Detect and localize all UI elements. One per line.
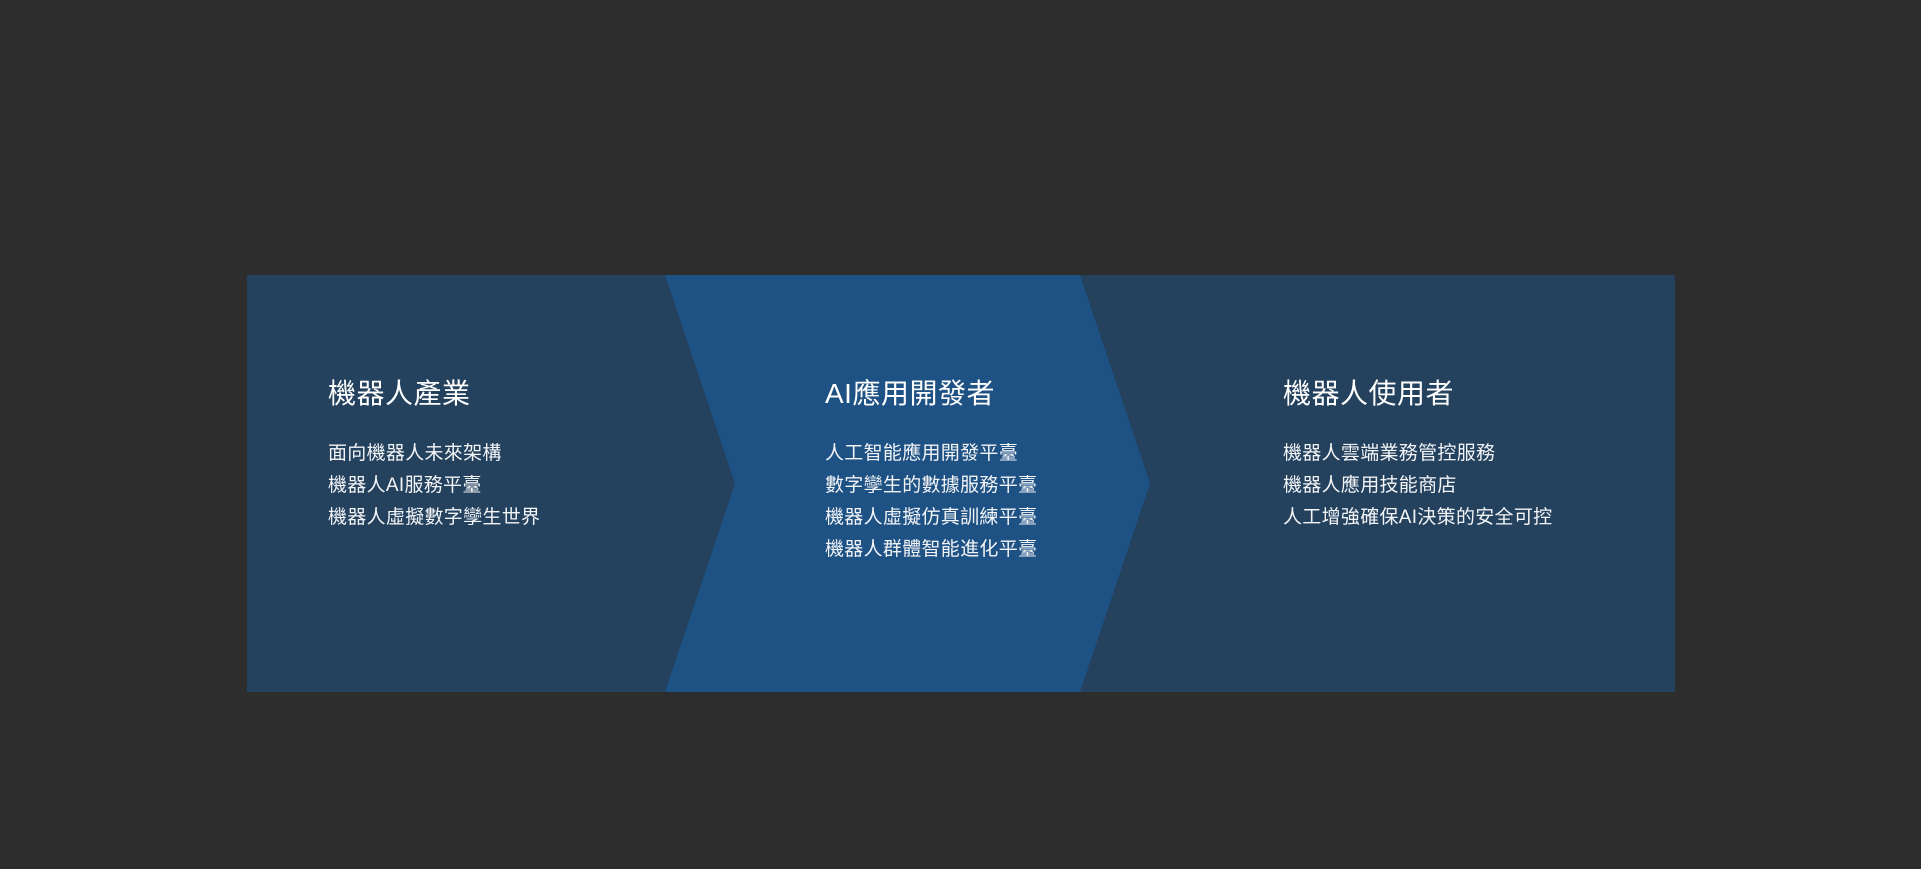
list-item: 人工智能應用開發平臺 (825, 438, 1037, 470)
list-item: 面向機器人未來架構 (328, 438, 540, 470)
list-item: 機器人虛擬數字孿生世界 (328, 502, 540, 534)
column-item-list: 人工智能應用開發平臺 數字孿生的數據服務平臺 機器人虛擬仿真訓練平臺 機器人群體… (825, 438, 1037, 566)
list-item: 機器人應用技能商店 (1283, 470, 1552, 502)
banner-column-ai-app-developer[interactable]: AI應用開發者 人工智能應用開發平臺 數字孿生的數據服務平臺 機器人虛擬仿真訓練… (825, 275, 1155, 692)
column-item-list: 機器人雲端業務管控服務 機器人應用技能商店 人工增強確保AI決策的安全可控 (1283, 438, 1552, 534)
column-item-list: 面向機器人未來架構 機器人AI服務平臺 機器人虛擬數字孿生世界 (328, 438, 540, 534)
list-item: 機器人雲端業務管控服務 (1283, 438, 1552, 470)
list-item: 機器人群體智能進化平臺 (825, 534, 1037, 566)
column-title: 機器人產業 (328, 377, 471, 411)
process-banner: 機器人產業 面向機器人未來架構 機器人AI服務平臺 機器人虛擬數字孿生世界 AI… (247, 275, 1675, 692)
banner-column-robot-user[interactable]: 機器人使用者 機器人雲端業務管控服務 機器人應用技能商店 人工增強確保AI決策的… (1283, 275, 1663, 692)
banner-column-robot-industry[interactable]: 機器人產業 面向機器人未來架構 機器人AI服務平臺 機器人虛擬數字孿生世界 (328, 275, 658, 692)
list-item: 機器人虛擬仿真訓練平臺 (825, 502, 1037, 534)
page-canvas: 機器人產業 面向機器人未來架構 機器人AI服務平臺 機器人虛擬數字孿生世界 AI… (0, 0, 1921, 869)
list-item: 數字孿生的數據服務平臺 (825, 470, 1037, 502)
list-item: 機器人AI服務平臺 (328, 470, 540, 502)
column-title: 機器人使用者 (1283, 377, 1454, 411)
column-title: AI應用開發者 (825, 377, 995, 411)
list-item: 人工增強確保AI決策的安全可控 (1283, 502, 1552, 534)
banner-columns: 機器人產業 面向機器人未來架構 機器人AI服務平臺 機器人虛擬數字孿生世界 AI… (247, 275, 1675, 692)
